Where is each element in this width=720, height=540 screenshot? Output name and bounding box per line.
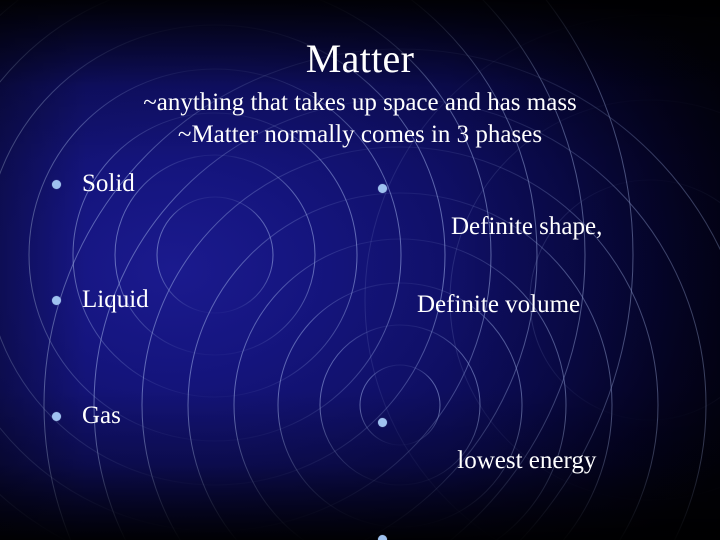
phases-column: Solid Liquid Gas bbox=[52, 168, 362, 516]
bullet-dot-icon bbox=[52, 412, 61, 421]
property-text: Definite shape, Definite volume bbox=[401, 168, 602, 402]
subtitle-line-2: ~Matter normally comes in 3 phases bbox=[30, 119, 690, 151]
list-item-solid-energy: lowest energy bbox=[378, 402, 708, 519]
bullet-dot-icon bbox=[378, 184, 387, 193]
subtitle-line-1: ~anything that takes up space and has ma… bbox=[30, 87, 690, 119]
property-line-1: Definite shape, bbox=[451, 213, 602, 240]
slide-title: Matter bbox=[0, 36, 720, 82]
list-item-liquid: Liquid bbox=[52, 284, 362, 400]
bullet-dot-icon bbox=[52, 296, 61, 305]
bullet-dot-icon bbox=[378, 535, 387, 540]
phase-label-liquid: Liquid bbox=[82, 284, 149, 315]
list-item-liquid-properties: No definite shape, definite volume bbox=[378, 519, 708, 540]
properties-column: Definite shape, Definite volume lowest e… bbox=[378, 168, 708, 540]
list-item-solid: Solid bbox=[52, 168, 362, 284]
list-item-solid-properties: Definite shape, Definite volume bbox=[378, 168, 708, 402]
property-line-2: Definite volume bbox=[401, 285, 602, 324]
property-text: lowest energy bbox=[401, 402, 596, 519]
phase-label-solid: Solid bbox=[82, 168, 135, 199]
phase-label-gas: Gas bbox=[82, 400, 121, 431]
slide-canvas: Matter ~anything that takes up space and… bbox=[0, 0, 720, 540]
bullet-dot-icon bbox=[378, 418, 387, 427]
slide-subtitle: ~anything that takes up space and has ma… bbox=[30, 87, 690, 151]
bullet-dot-icon bbox=[52, 180, 61, 189]
property-text: No definite shape, definite volume bbox=[401, 519, 634, 540]
list-item-gas: Gas bbox=[52, 400, 362, 516]
property-line-1: lowest energy bbox=[451, 447, 596, 474]
